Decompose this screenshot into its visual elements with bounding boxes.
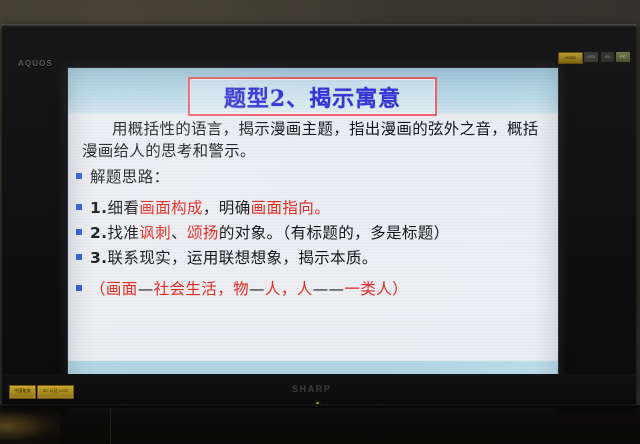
certification-sticker: 3C 认证 CCC [37,385,74,399]
bullet-step-3: 3.联系现实，运用联想想象，揭示本质。 [76,248,550,268]
text-span: 3. [90,249,107,267]
slide-body: 用概括性的语言，揭示漫画主题，指出漫画的弦外之音，概括漫画给人的思考和警示。 解… [76,118,550,299]
bullet-list: 解题思路：1.细看画面构成，明确画面指向。2.找准讽刺、颂扬的对象。（有标题的，… [76,167,550,299]
text-span: 2. [90,224,107,242]
television-set: AQUOS HDMI USB AV PC [2,24,636,408]
text-span: 细看 [107,199,139,217]
input-label-3: AV [601,52,614,62]
text-span: 画面指向。 [251,199,331,217]
input-label-1: HDMI [558,52,583,64]
input-label-3-text: AV [601,54,614,59]
bullet-step-2: 2.找准讽刺、颂扬的对象。（有标题的，多是标题） [76,223,550,243]
bullet-step-2-text: 2.找准讽刺、颂扬的对象。（有标题的，多是标题） [90,223,450,243]
text-span: 找准 [107,224,139,242]
room-scene: AQUOS HDMI USB AV PC [0,0,640,444]
square-bullet-icon [76,229,82,235]
square-bullet-icon [76,254,82,260]
slide-title-box: 题型2、揭示寓意 [188,77,437,116]
bullet-step-1: 1.细看画面构成，明确画面指向。 [76,198,550,218]
input-label-4: PC [616,52,630,62]
floor-seam [110,408,111,444]
page-title: 题型2、揭示寓意 [224,81,401,113]
square-bullet-icon [76,173,82,179]
input-label-4-text: PC [616,54,630,59]
text-span: 人，人 [265,280,313,298]
row-spacer [76,268,550,274]
presentation-slide: 语文课件网 题型2、揭示寓意 用概括性的语言，揭示漫画主题，指出漫画的弦外之音，… [68,68,558,406]
row-spacer [76,187,550,193]
bullet-approach-heading-text: 解题思路： [90,167,170,187]
text-span: ，明确 [203,199,251,217]
square-bullet-icon [76,285,82,291]
certification-text: 3C 认证 CCC [39,388,72,393]
bullet-step-1-text: 1.细看画面构成，明确画面指向。 [90,198,330,218]
tv-screen: 语文课件网 题型2、揭示寓意 用概括性的语言，揭示漫画主题，指出漫画的弦外之音，… [68,68,558,406]
bullet-approach-heading: 解题思路： [76,167,550,187]
energy-label-sticker: 中国能效 [9,385,36,399]
text-span: 联系现实，运用联想想象，揭示本质。 [107,249,377,267]
text-span: 社会生活，物 [154,280,249,298]
text-span: 的对象。（有标题的，多是标题） [219,224,450,242]
text-span: —— [313,280,345,298]
sharp-logo: SHARP [292,384,332,394]
text-span: — [249,280,265,298]
input-label-2-text: USB [584,54,598,59]
intro-paragraph: 用概括性的语言，揭示漫画主题，指出漫画的弦外之音，概括漫画给人的思考和警示。 [82,118,544,162]
text-span: 、 [171,224,187,242]
bezel-top-highlight [2,24,636,27]
text-span: 讽刺 [139,224,171,242]
floor-area [0,405,640,444]
square-bullet-icon [76,204,82,210]
input-label-2: USB [584,52,598,62]
text-span: 1. [90,199,107,217]
bullet-step-3-text: 3.联系现实，运用联想想象，揭示本质。 [90,248,378,268]
text-span: 解题思路： [90,168,170,186]
text-span: 一类人） [344,280,408,298]
bullet-mapping-note-text: （画面—社会生活，物—人，人——一类人） [90,279,408,299]
bezel-bottom-edge [2,404,636,408]
energy-label-text: 中国能效 [11,388,34,393]
text-span: — [138,280,154,298]
text-span: 颂扬 [187,224,219,242]
text-span: 画面构成 [139,199,203,217]
floor-light-glow [0,408,60,444]
text-span: （画面 [90,280,138,298]
bullet-mapping-note: （画面—社会生活，物—人，人——一类人） [76,279,550,299]
bezel-bottom-bar: SHARP 中国能效 3C 认证 CCC [2,374,636,408]
input-label-1-text: HDMI [559,55,582,60]
aquos-logo: AQUOS [18,59,53,68]
